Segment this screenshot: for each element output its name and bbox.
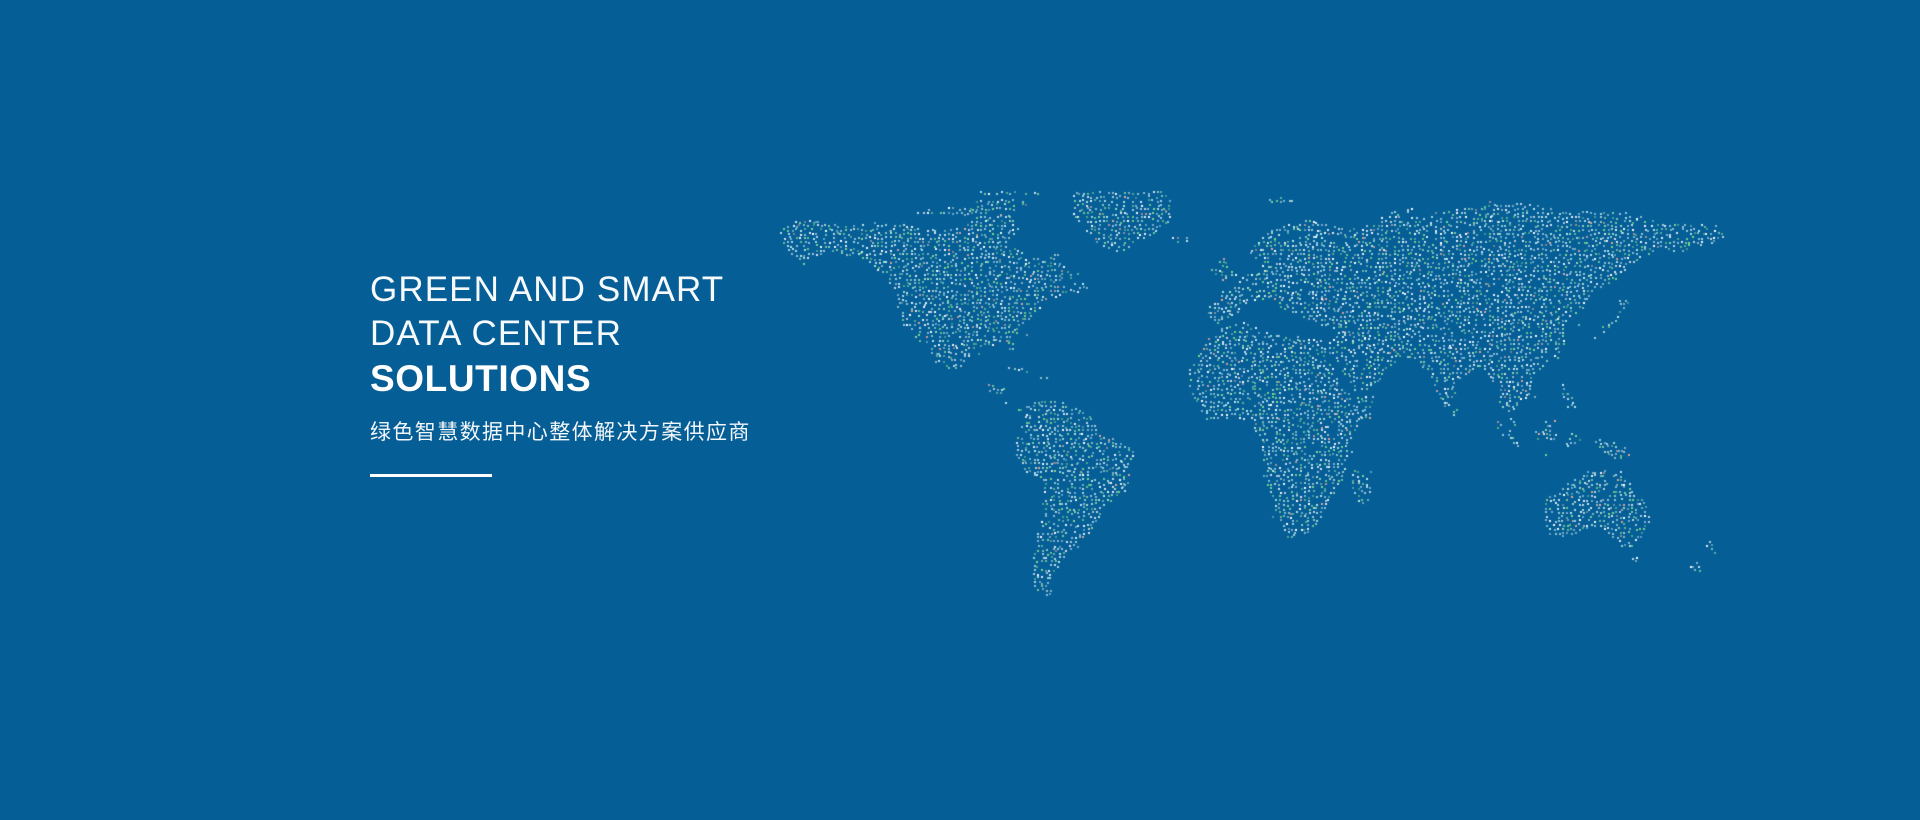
headline-line-3: SOLUTIONS [370,356,751,402]
accent-rule [370,474,492,477]
world-map-canvas [0,0,1920,820]
hero-banner: GREEN AND SMART DATA CENTER SOLUTIONS 绿色… [0,0,1920,820]
headline-block: GREEN AND SMART DATA CENTER SOLUTIONS 绿色… [370,268,751,477]
subtitle-chinese: 绿色智慧数据中心整体解决方案供应商 [370,418,751,448]
dotted-world-map [0,0,1920,820]
headline-line-2: DATA CENTER [370,312,751,356]
headline-line-1: GREEN AND SMART [370,268,751,312]
